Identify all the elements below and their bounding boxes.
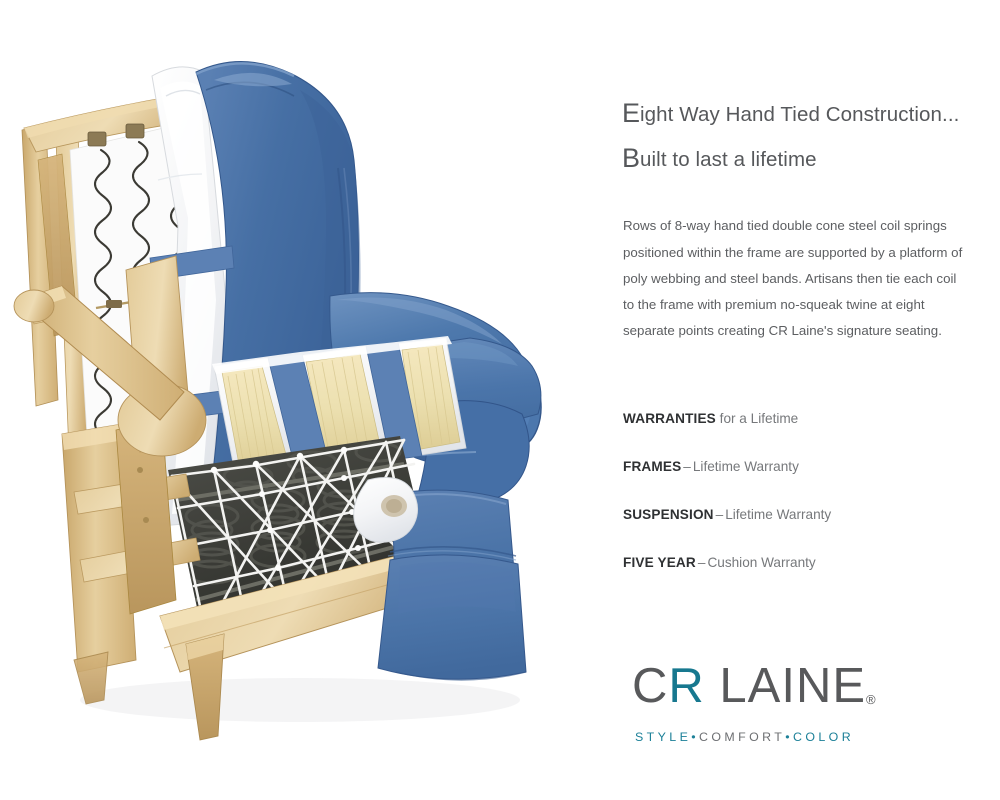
headline-dropcap-e: E <box>622 98 640 128</box>
warranty-heading: WARRANTIES for a Lifetime <box>623 410 983 428</box>
warranty-term-suspension: SUSPENSION <box>623 507 714 522</box>
warranty-row-suspension: SUSPENSION–Lifetime Warranty <box>623 506 983 524</box>
logo-wordmark: CR LAINE® <box>632 660 992 726</box>
brand-logo: CR LAINE® STYLE•COMFORT•COLOR <box>632 660 992 744</box>
headline-dropcap-b: B <box>622 143 640 173</box>
warranty-desc-five-year: Cushion Warranty <box>707 555 815 570</box>
warranty-heading-term: WARRANTIES <box>623 411 716 426</box>
tagline-dot-1: • <box>691 730 699 744</box>
headline-line-1-text: ight Way Hand Tied Construction... <box>640 103 959 126</box>
headline-line-2-text: uilt to last a lifetime <box>640 148 817 171</box>
warranty-separator-five-year: – <box>696 555 708 570</box>
poster-page: Eight Way Hand Tied Construction... Buil… <box>0 0 1000 800</box>
headline-block: Eight Way Hand Tied Construction... Buil… <box>622 92 994 182</box>
warranty-row-frames: FRAMES–Lifetime Warranty <box>623 458 983 476</box>
logo-tagline: STYLE•COMFORT•COLOR <box>632 730 992 744</box>
tagline-comfort: COMFORT <box>699 730 785 744</box>
logo-letter-r: R <box>668 659 704 713</box>
info-panel: Eight Way Hand Tied Construction... Buil… <box>620 0 1000 800</box>
headline-line-2: Built to last a lifetime <box>622 137 994 182</box>
tagline-style: STYLE <box>635 730 691 744</box>
warranty-term-frames: FRAMES <box>623 459 681 474</box>
warranty-term-five-year: FIVE YEAR <box>623 555 696 570</box>
tagline-color: COLOR <box>793 730 854 744</box>
headline-line-1: Eight Way Hand Tied Construction... <box>622 92 994 137</box>
warranty-block: WARRANTIES for a Lifetime FRAMES–Lifetim… <box>623 410 983 572</box>
logo-word-laine: LAINE <box>705 659 866 713</box>
logo-letter-c: C <box>632 659 668 713</box>
warranty-separator-frames: – <box>681 459 693 474</box>
seat-front-dacron <box>354 478 418 543</box>
tagline-dot-2: • <box>785 730 793 744</box>
warranty-desc-suspension: Lifetime Warranty <box>725 507 831 522</box>
warranty-desc-frames: Lifetime Warranty <box>693 459 799 474</box>
body-paragraph: Rows of 8-way hand tied double cone stee… <box>623 213 968 344</box>
product-image <box>0 0 620 800</box>
warranty-heading-rest: for a Lifetime <box>720 411 799 426</box>
warranty-separator-suspension: – <box>714 507 726 522</box>
registered-trademark-icon: ® <box>866 692 876 707</box>
warranty-row-five-year: FIVE YEAR–Cushion Warranty <box>623 554 983 572</box>
